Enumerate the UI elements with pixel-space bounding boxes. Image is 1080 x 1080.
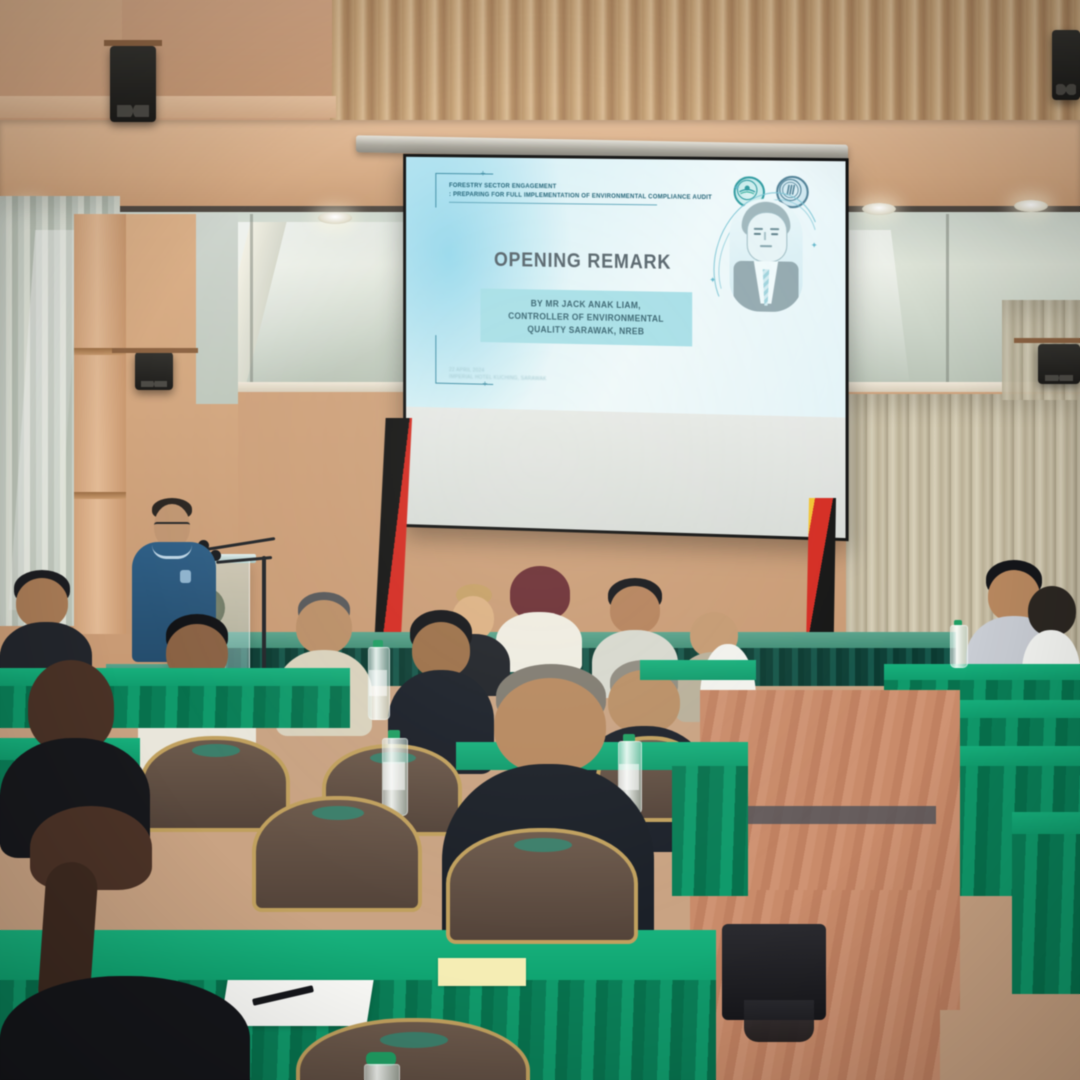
banquet-chair-front [446,828,638,944]
presentation-slide: + + FORESTRY SECTOR ENGAGEMENT : PREPARI… [406,157,845,418]
water-bottle [950,620,966,666]
speaker-bracket [1014,338,1080,343]
wall-speaker-top-right [1052,30,1080,100]
wall-panel-edge [196,214,238,404]
chair-handle-cutout [312,806,364,820]
window-mullion [250,214,253,386]
banquet-chair-front [252,796,422,912]
sticky-note [438,958,526,986]
chair-handle-cutout [514,838,572,852]
portrait-eye [754,233,761,236]
portrait-brow [754,228,763,230]
timber-slat-panel [330,0,1080,128]
bottle-body [364,1064,400,1080]
speaker-glasses-icon [154,522,190,531]
screen-blank-area [406,407,845,538]
portrait-nose [764,232,766,240]
chair-handle-cutout [380,1032,448,1048]
slide-tick-mark: + [480,169,485,178]
wall-speaker-right [1038,344,1080,384]
slide-title: OPENING REMARK [471,249,695,276]
chair-backrest [296,1018,530,1080]
bottle-body [950,625,968,668]
wall-speaker-top-left [110,46,156,122]
wall-corner-shadow [0,96,336,118]
audience-person-nearest [0,806,250,1080]
person-head [1028,586,1076,636]
speaker-bracket [112,348,198,353]
speaker-bracket [104,40,162,46]
portrait-eye [771,233,778,236]
person-head [610,586,660,634]
bottle-label [383,762,405,790]
sparkle-icon: ✦ [709,276,716,284]
ceiling-spotlight [318,212,352,224]
chair-handle-cutout [192,744,240,757]
slide-header: FORESTRY SECTOR ENGAGEMENT : PREPARING F… [449,181,729,202]
speaker-badge [180,570,191,583]
slide-subtitle-box: BY MR JACK ANAK LIAM, CONTROLLER OF ENVI… [480,288,692,346]
water-bottle [368,640,388,718]
backpack-strap [744,1000,814,1042]
wall-speaker-left [135,352,173,390]
ceiling-spotlight [1014,200,1048,212]
person-head [296,600,352,654]
vertical-flag-right [806,498,836,648]
bottle-label [369,670,387,696]
projection-screen-assembly: + + FORESTRY SECTOR ENGAGEMENT : PREPARI… [356,140,848,532]
sparkle-icon: ✦ [734,184,741,192]
portrait-mouth [760,245,772,247]
person-head [16,578,68,628]
person-head [494,678,606,774]
table-skirt-middle-b [672,766,748,896]
window-mullion [946,214,949,386]
microphone-stand-pole [262,556,266,674]
speaker-portrait-illustration: ✦ ✦ ✦ [713,188,819,341]
floor-mat [724,806,936,824]
conference-hall-photo: + + FORESTRY SECTOR ENGAGEMENT : PREPARI… [0,0,1080,1080]
sparkle-icon: ✦ [811,242,818,250]
projection-screen: + + FORESTRY SECTOR ENGAGEMENT : PREPARI… [403,154,848,541]
water-bottle [364,1052,398,1080]
portrait-figure [730,198,803,312]
speaker-collar [152,542,192,559]
slide-subtitle-line3: QUALITY SARAWAK, NREB [494,321,677,338]
table-row-back-right [640,660,756,680]
portrait-brow [770,228,779,230]
side-table-skirt [1012,834,1080,994]
audience-person [0,570,92,670]
portrait-face [747,212,788,263]
banquet-chair-nearest [296,1018,530,1080]
flag-stripes [806,498,836,648]
ceiling-spotlight [862,203,896,215]
